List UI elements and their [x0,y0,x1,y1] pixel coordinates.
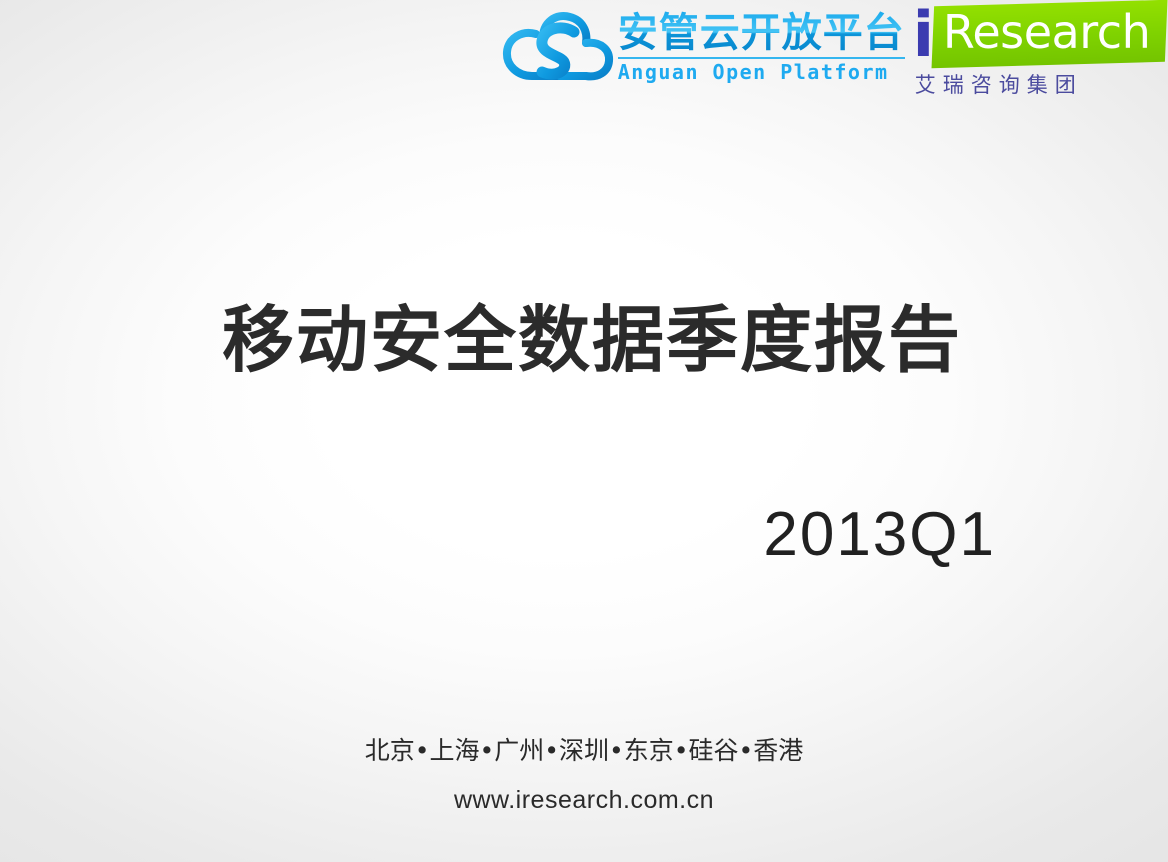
footer-website-url: www.iresearch.com.cn [0,784,1168,816]
iresearch-logo: i Research 艾瑞咨询集团 [913,2,1166,98]
title-block: 移动安全数据季度报告 [222,296,922,384]
iresearch-i-letter: i [913,4,934,66]
footer-cities-line: 北京•上海•广州•深圳•东京•硅谷•香港 [0,734,1168,768]
anguan-name-cn: 安管云开放平台 [618,10,905,56]
header-logo-strip: 安管云开放平台 Anguan Open Platform i Research … [0,0,1168,112]
iresearch-logomark: i Research [913,2,1166,70]
footer: 北京•上海•广州•深圳•东京•硅谷•香港 www.iresearch.com.c… [0,734,1168,816]
iresearch-green-block: Research [932,0,1168,68]
title-slide: 安管云开放平台 Anguan Open Platform i Research … [0,0,1168,862]
iresearch-name-cn: 艾瑞咨询集团 [915,72,1083,98]
cloud-s-logo-icon [498,10,616,88]
anguan-name-en: Anguan Open Platform [618,60,905,84]
anguan-wordmark: 安管云开放平台 Anguan Open Platform [618,10,905,84]
iresearch-research-word: Research [943,9,1150,55]
page-title: 移动安全数据季度报告 [222,296,922,384]
anguan-logo: 安管云开放平台 Anguan Open Platform [498,8,905,88]
quarter-block: 2013Q1 [0,500,1168,570]
report-quarter-label: 2013Q1 [763,500,996,569]
anguan-divider-rule [618,57,905,59]
